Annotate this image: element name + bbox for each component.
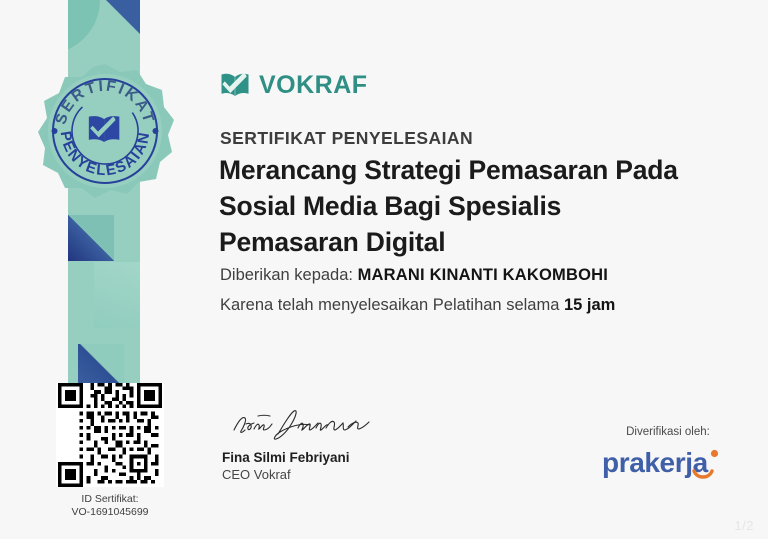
ribbon-soft-diagonal [94, 262, 140, 328]
brand-logo: VOKRAF [220, 70, 368, 100]
duration-line: Karena telah menyelesaikan Pelatihan sel… [220, 296, 615, 315]
recipient-name: MARANI KINANTI KAKOMBOHI [358, 266, 608, 284]
ribbon-triangle-bottom-icon [78, 344, 124, 384]
verifier-block: Diverifikasi oleh: prakerja [592, 426, 744, 483]
certificate-kicker: SERTIFIKAT PENYELESAIAN [220, 128, 473, 149]
certificate-id-label: ID Sertifikat: [56, 493, 164, 506]
signer-role: CEO Vokraf [222, 467, 432, 482]
brand-name: VOKRAF [259, 73, 368, 98]
certificate-title: Merancang Strategi Pemasaran Pada Sosial… [219, 152, 689, 260]
signer-name: Fina Silmi Febriyani [222, 450, 432, 465]
certificate-id-value: VO-1691045699 [56, 506, 164, 519]
completion-seal: SERTIFIKAT PENYELESAIAN [36, 62, 174, 200]
seal-graphic: SERTIFIKAT PENYELESAIAN [36, 62, 174, 200]
recipient-line: Diberikan kepada: MARANI KINANTI KAKOMBO… [220, 266, 608, 285]
seal-dot-left [52, 128, 58, 134]
svg-text:prakerja: prakerja [602, 447, 709, 478]
ribbon-triangle-middle-icon [68, 215, 114, 261]
seal-book-check-icon [89, 116, 120, 142]
given-label: Diberikan kepada: [220, 266, 353, 284]
ribbon-triangle-top-icon [106, 0, 140, 34]
verifier-label: Diverifikasi oleh: [592, 426, 744, 438]
signature-block: Fina Silmi Febriyani CEO Vokraf [222, 404, 432, 482]
duration-prefix: Karena telah menyelesaikan Pelatihan sel… [220, 296, 559, 314]
qr-code[interactable] [56, 383, 164, 487]
seal-dot-right [153, 128, 159, 134]
handwritten-signature-icon [228, 404, 378, 446]
certificate-page: SERTIFIKAT PENYELESAIAN VOKRAF SERTIFIKA… [0, 0, 768, 539]
certificate-qr-block: ID Sertifikat: VO-1691045699 [56, 383, 164, 519]
page-indicator: 1/2 [734, 518, 754, 533]
prakerja-logo-icon: prakerja [598, 443, 738, 483]
book-check-icon [220, 70, 250, 100]
duration-value: 15 jam [564, 296, 615, 314]
certificate-id: ID Sertifikat: VO-1691045699 [56, 493, 164, 519]
